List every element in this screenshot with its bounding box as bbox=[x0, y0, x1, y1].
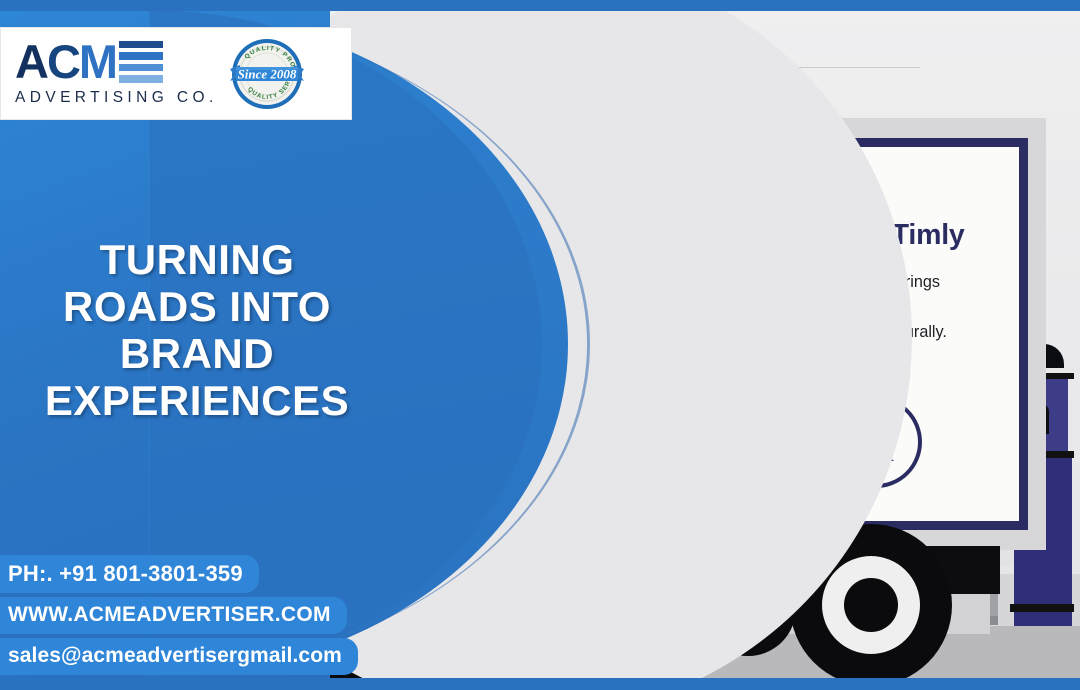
contact-email[interactable]: sales@acmeadvertisergmail.com bbox=[0, 638, 358, 675]
logo-letter-c: C bbox=[47, 40, 79, 83]
headline-line-1: TURNING bbox=[6, 236, 388, 283]
contact-website[interactable]: WWW.ACMEADVERTISER.COM bbox=[0, 597, 347, 634]
headline-text: TURNING ROADS INTO BRAND EXPERIENCES bbox=[6, 236, 388, 424]
since-2008-badge-icon: QUALITY PRODUCTS QUALITY SERVICE Since 2… bbox=[228, 35, 306, 113]
logo-e-bars-icon bbox=[119, 41, 163, 83]
headline-line-4: EXPERIENCES bbox=[6, 377, 388, 424]
logo-acme-letters: A C M bbox=[15, 40, 218, 83]
headline-line-2: ROADS INTO bbox=[6, 283, 388, 330]
logo-letter-a: A bbox=[15, 40, 47, 83]
logo-wordmark: A C M ADVERTISING CO. bbox=[15, 40, 218, 106]
svg-text:Since 2008: Since 2008 bbox=[237, 66, 296, 81]
logo-subtitle: ADVERTISING CO. bbox=[15, 89, 218, 107]
headline-line-3: BRAND bbox=[6, 330, 388, 377]
contact-phone[interactable]: PH:. +91 801-3801-359 bbox=[0, 555, 259, 593]
bottom-accent-bar bbox=[0, 678, 1080, 690]
contact-info-block: PH:. +91 801-3801-359 WWW.ACMEADVERTISER… bbox=[0, 555, 358, 675]
logo-letter-m: M bbox=[79, 40, 116, 83]
company-logo-card: A C M ADVERTISING CO. QUALITY PRODUCTS bbox=[0, 27, 352, 120]
top-accent-bar bbox=[0, 0, 1080, 11]
advertising-poster: Seasonal and Event-Based Campaigns: Stay… bbox=[0, 0, 1080, 690]
